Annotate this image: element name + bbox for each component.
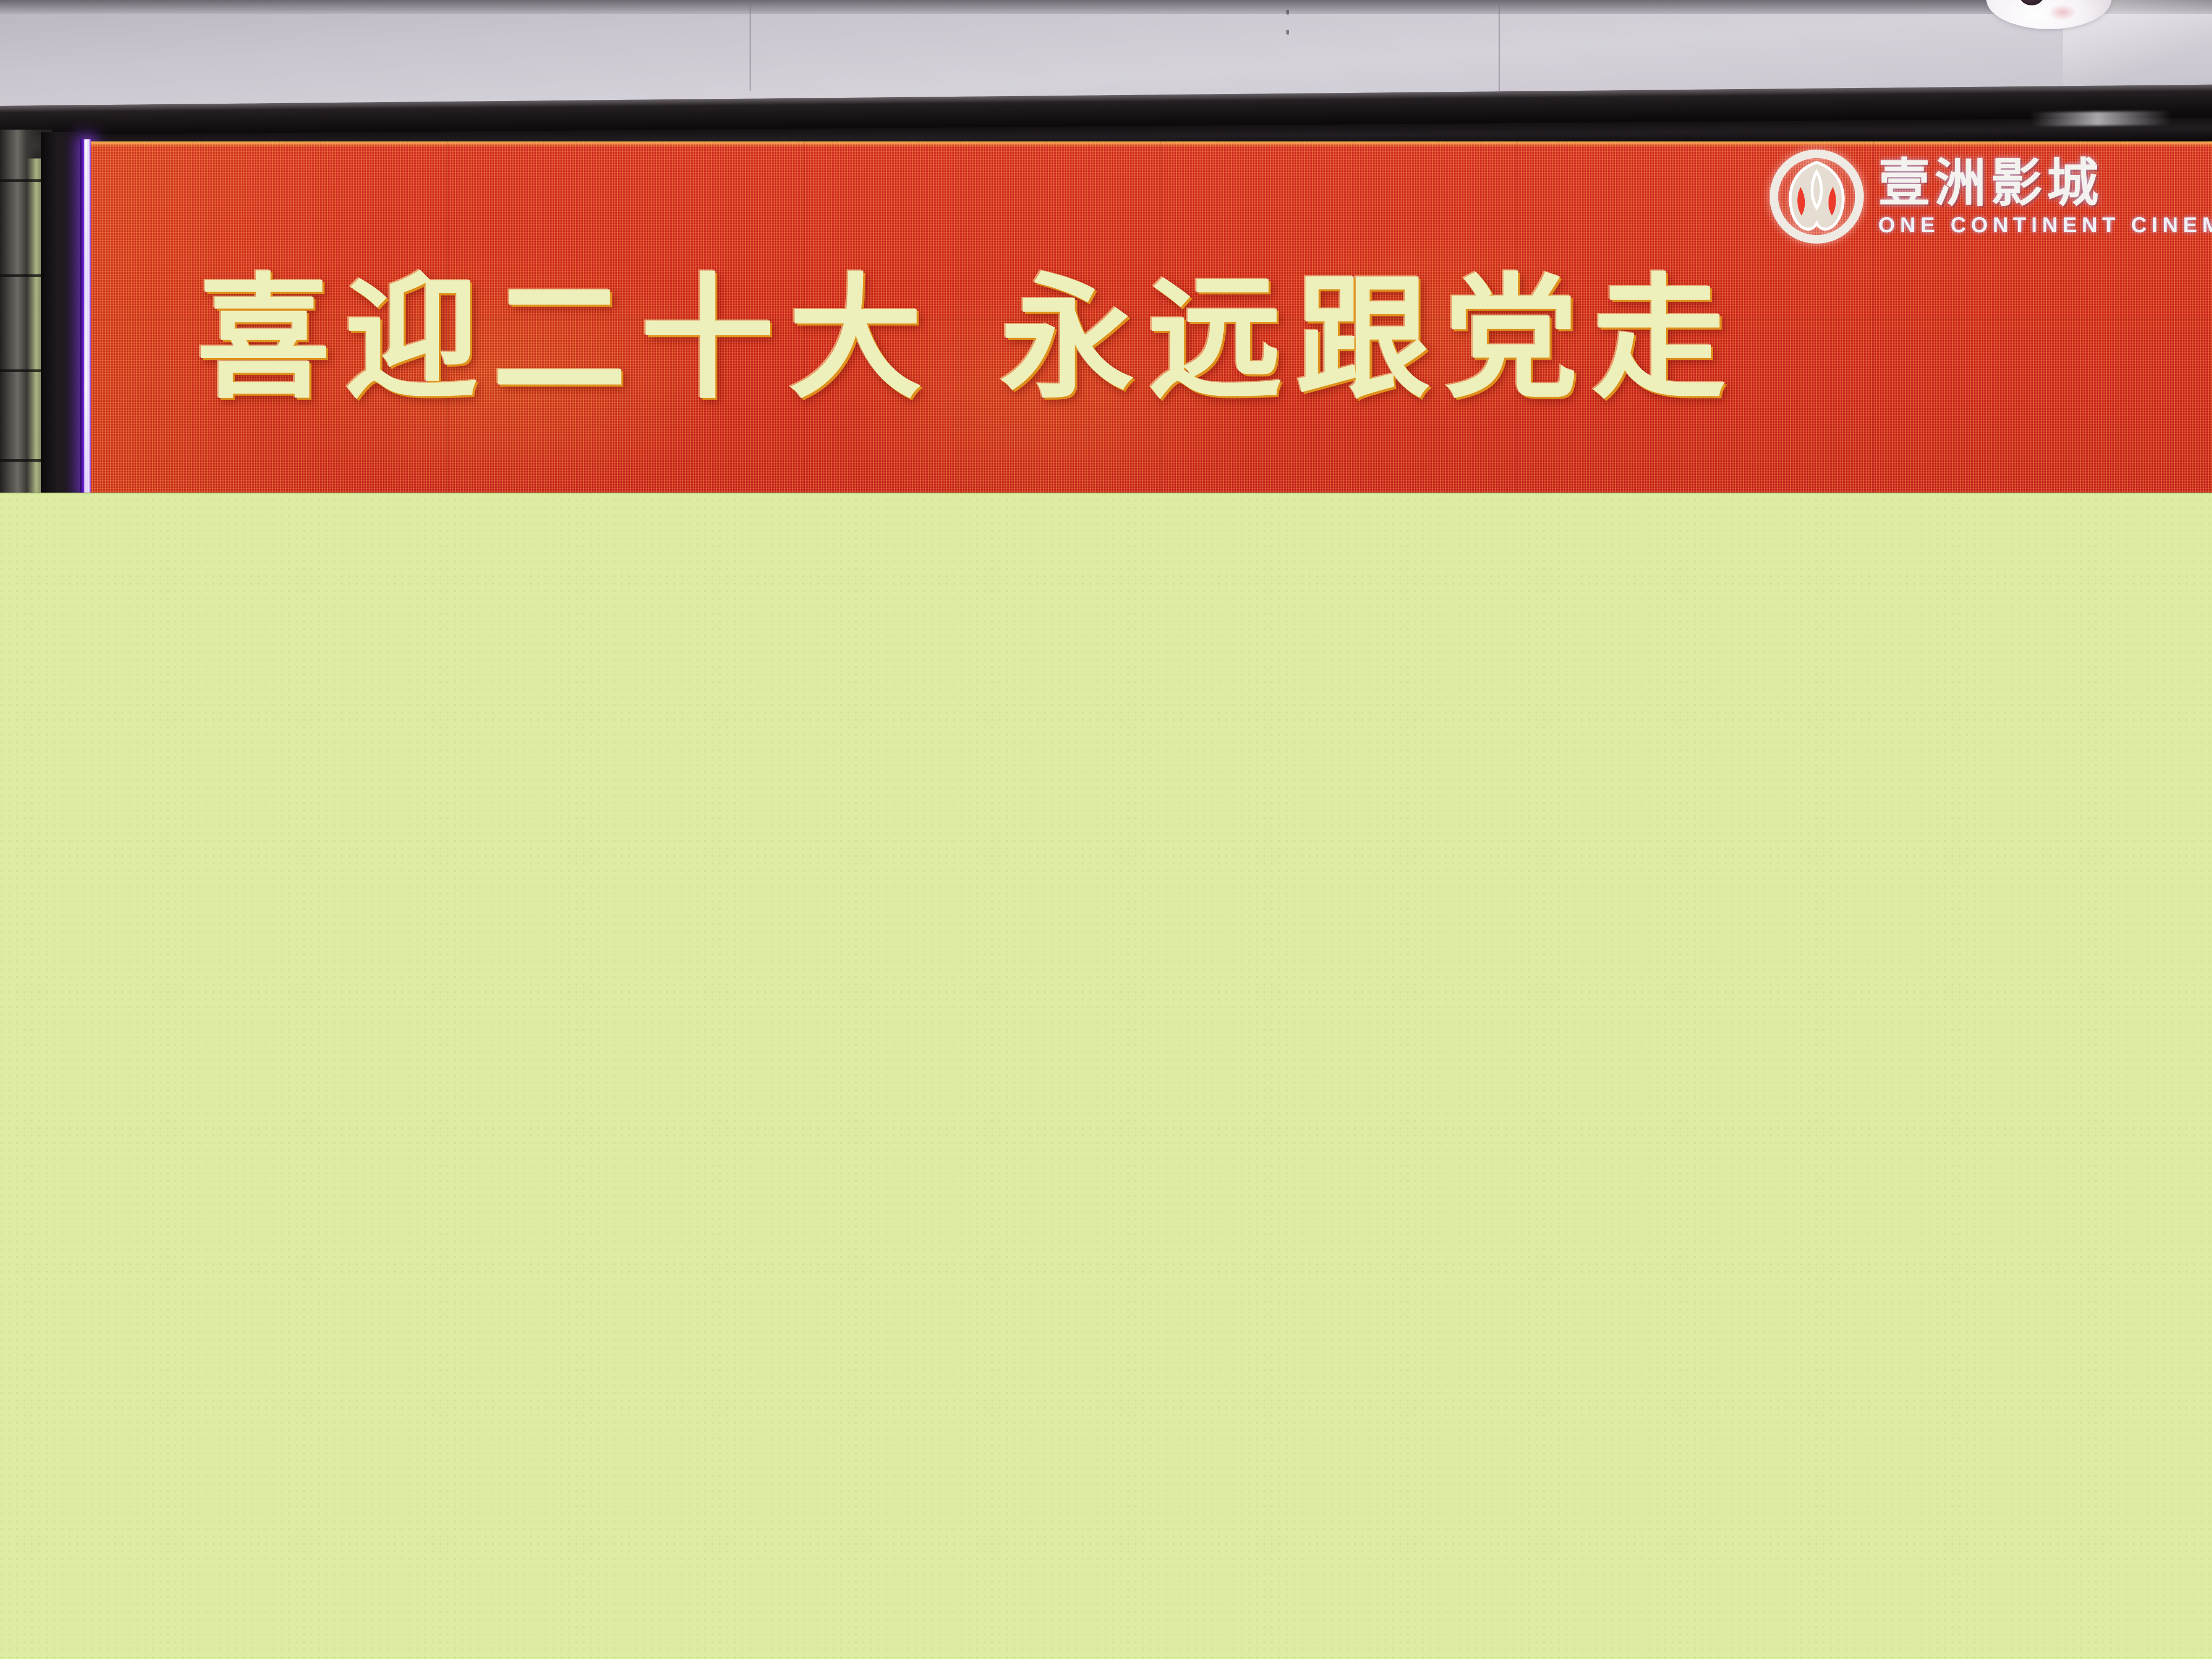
ceiling-shadow-strip xyxy=(0,0,2212,14)
led-banner-screen: 壹洲影城 ONE CONTINENT CINEMA 喜迎二十大永远跟党走 xyxy=(91,141,2212,493)
banner-slogan: 喜迎二十大永远跟党走 xyxy=(197,272,1740,406)
screen-top-glow xyxy=(91,141,2212,147)
cinema-name-en: ONE CONTINENT CINEMA xyxy=(1878,214,2212,236)
cinema-logo-text: 壹洲影城 ONE CONTINENT CINEMA xyxy=(1878,157,2212,236)
led-edge-strip-core xyxy=(84,139,87,493)
photo-band: 壹洲影城 ONE CONTINENT CINEMA 喜迎二十大永远跟党走 xyxy=(0,0,2212,493)
banner-slogan-line-2: 永远跟党走 xyxy=(1000,261,1740,417)
ceiling-speck xyxy=(1286,30,1289,35)
dome-camera-reflection xyxy=(2048,4,2076,21)
ceiling-speck xyxy=(1286,10,1289,15)
screen-bezel-left xyxy=(41,132,83,493)
screen-bezel-gloss xyxy=(2031,111,2171,126)
cinema-name-cn: 壹洲影城 xyxy=(1878,157,2212,209)
ceiling-panel-seam xyxy=(1499,0,1500,91)
ceiling-panel-seam xyxy=(750,0,751,91)
cinema-logo: 壹洲影城 ONE CONTINENT CINEMA xyxy=(1769,149,2212,244)
one-continent-cinema-logo-mark-icon xyxy=(1769,149,1864,244)
banner-slogan-line-1: 喜迎二十大 xyxy=(197,261,936,417)
photo-crop-edge xyxy=(0,492,2212,494)
